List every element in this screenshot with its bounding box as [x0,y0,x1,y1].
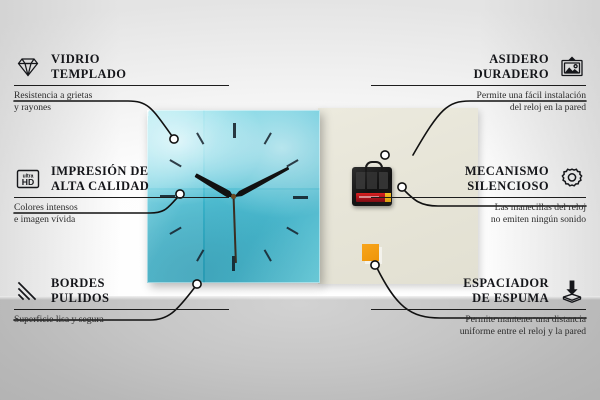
background-vignette-right [480,0,600,300]
feature-divider [371,197,586,198]
diamond-icon [14,53,42,81]
feature-description: Permite mantener una distancia uniforme … [371,314,586,337]
feature-description: Permite una fácil instalación del reloj … [371,90,586,113]
feature-divider [371,309,586,310]
feature-title: VIDRIO TEMPLADO [51,52,126,81]
feature-divider [371,85,586,86]
wall-hanging-picture-icon [558,53,586,81]
feature-divider [14,309,229,310]
feature-vidrio-templado: VIDRIO TEMPLADO Resistencia a grietas y … [14,52,229,113]
feature-description: Las manecillas del reloj no emiten ningú… [371,202,586,225]
feature-divider [14,197,229,198]
svg-text:HD: HD [22,177,34,187]
infographic-canvas: VIDRIO TEMPLADO Resistencia a grietas y … [0,0,600,400]
feature-bordes-pulidos: BORDES PULIDOS Superficie lisa y segura [14,276,229,326]
feature-mecanismo-silencioso: MECANISMO SILENCIOSO Las manecillas del … [371,164,586,225]
feature-title: IMPRESIÓN DE ALTA CALIDAD [51,164,149,193]
press-down-arrow-icon [558,277,586,305]
feature-title: ASIDERO DURADERO [474,52,549,81]
polished-edges-icon [14,277,42,305]
feature-description: Resistencia a grietas y rayones [14,90,229,113]
feature-title: BORDES PULIDOS [51,276,109,305]
background-vignette-left [0,0,120,300]
ultra-hd-icon: ultra HD [14,165,42,193]
feature-asidero-duradero: ASIDERO DURADERO Permite una fácil insta… [371,52,586,113]
gear-icon [558,165,586,193]
feature-espaciador-de-espuma: ESPACIADOR DE ESPUMA Permite mantener un… [371,276,586,337]
feature-title: ESPACIADOR DE ESPUMA [463,276,549,305]
foam-spacer [362,244,379,261]
feature-divider [14,85,229,86]
feature-description: Colores intensos e imagen vívida [14,202,229,225]
feature-title: MECANISMO SILENCIOSO [465,164,549,193]
feature-impresion-alta-calidad: ultra HD IMPRESIÓN DE ALTA CALIDAD Color… [14,164,229,225]
feature-description: Superficie lisa y segura [14,314,229,326]
